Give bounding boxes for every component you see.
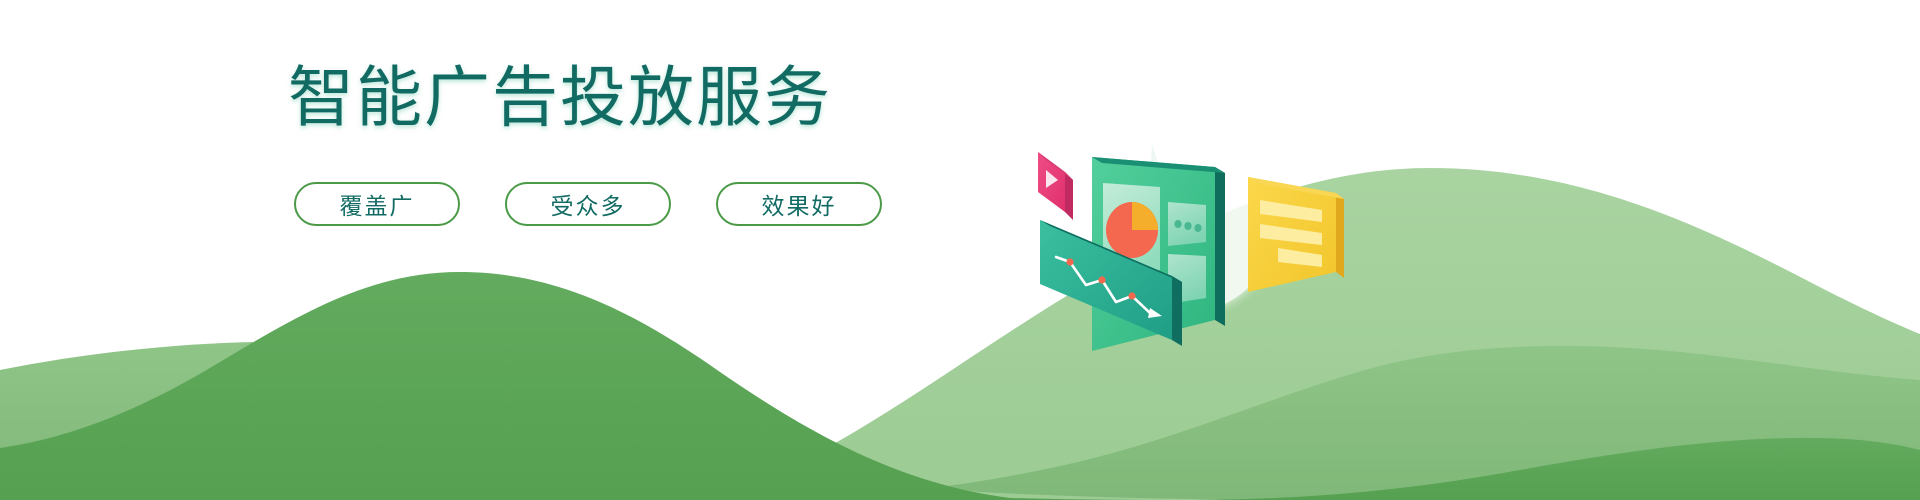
line-chart-point-1 bbox=[1066, 258, 1073, 265]
badge-audience[interactable]: 受众多 bbox=[505, 182, 671, 226]
isometric-ad-analytics-illustration bbox=[1020, 130, 1360, 370]
page-title: 智能广告投放服务 bbox=[288, 54, 832, 140]
dot-1 bbox=[1174, 220, 1181, 228]
play-card bbox=[1038, 152, 1073, 220]
pie-chart bbox=[1106, 202, 1158, 258]
badge-coverage[interactable]: 覆盖广 bbox=[294, 182, 460, 226]
line-chart-point-3 bbox=[1128, 292, 1135, 299]
note-card bbox=[1248, 177, 1344, 292]
hero-banner: 智能广告投放服务 覆盖广 受众多 效果好 bbox=[0, 0, 1920, 500]
dot-3 bbox=[1194, 224, 1201, 232]
line-chart-point-2 bbox=[1098, 276, 1105, 283]
badge-performance[interactable]: 效果好 bbox=[716, 182, 882, 226]
feature-badge-group: 覆盖广 受众多 效果好 bbox=[294, 182, 882, 226]
dot-2 bbox=[1184, 222, 1191, 230]
